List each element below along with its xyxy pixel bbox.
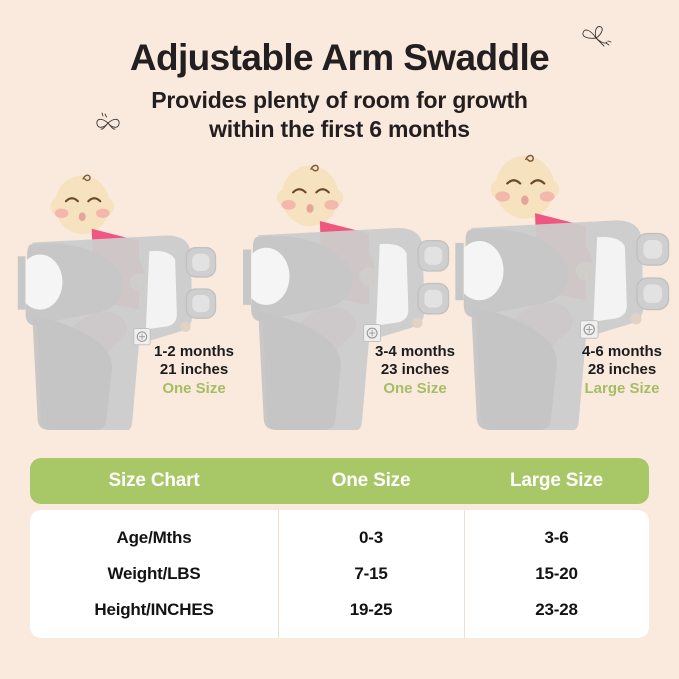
swaddle-months: 1-2 months [144, 343, 244, 361]
row-label: Height/INCHES [30, 600, 278, 620]
swaddle-size-label: One Size [144, 380, 244, 398]
swaddle-months: 4-6 months [565, 343, 679, 361]
row-large-size-value: 3-6 [464, 528, 649, 548]
row-label: Age/Mths [30, 528, 278, 548]
size-chart-header-row: Size Chart One Size Large Size [30, 458, 649, 504]
header: Adjustable Arm Swaddle Provides plenty o… [0, 0, 679, 150]
size-chart-body: Age/Mths 0-3 3-6 Weight/LBS 7-15 15-20 H… [30, 510, 649, 638]
row-one-size-value: 7-15 [278, 564, 464, 584]
swaddle-inches: 28 inches [565, 361, 679, 379]
page-subtitle: Provides plenty of room for growth withi… [0, 86, 679, 144]
swaddle-item-2: 3-4 months 23 inches One Size [235, 162, 460, 430]
page-title: Adjustable Arm Swaddle [0, 36, 679, 80]
swaddle-item-1: 1-2 months 21 inches One Size [10, 170, 225, 430]
swaddle-illustration-row: 1-2 months 21 inches One Size [0, 150, 679, 430]
swaddle-size-label: Large Size [565, 380, 679, 398]
row-large-size-value: 23-28 [464, 600, 649, 620]
size-chart-header-label: Size Chart [30, 470, 278, 492]
row-one-size-value: 0-3 [278, 528, 464, 548]
row-large-size-value: 15-20 [464, 564, 649, 584]
row-label: Weight/LBS [30, 564, 278, 584]
row-one-size-value: 19-25 [278, 600, 464, 620]
table-row: Age/Mths 0-3 3-6 [30, 520, 649, 556]
size-chart-table: Size Chart One Size Large Size Age/Mths … [30, 458, 649, 638]
swaddle-item-3: 4-6 months 28 inches Large Size [447, 152, 679, 430]
swaddle-caption-1: 1-2 months 21 inches One Size [144, 343, 244, 398]
subtitle-line-2: within the first 6 months [0, 115, 679, 144]
size-chart-header-large-size: Large Size [464, 470, 649, 492]
swaddle-caption-3: 4-6 months 28 inches Large Size [565, 343, 679, 398]
size-chart-header-one-size: One Size [278, 470, 464, 492]
table-row: Height/INCHES 19-25 23-28 [30, 592, 649, 628]
table-row: Weight/LBS 7-15 15-20 [30, 556, 649, 592]
subtitle-line-1: Provides plenty of room for growth [0, 86, 679, 115]
swaddle-inches: 21 inches [144, 361, 244, 379]
